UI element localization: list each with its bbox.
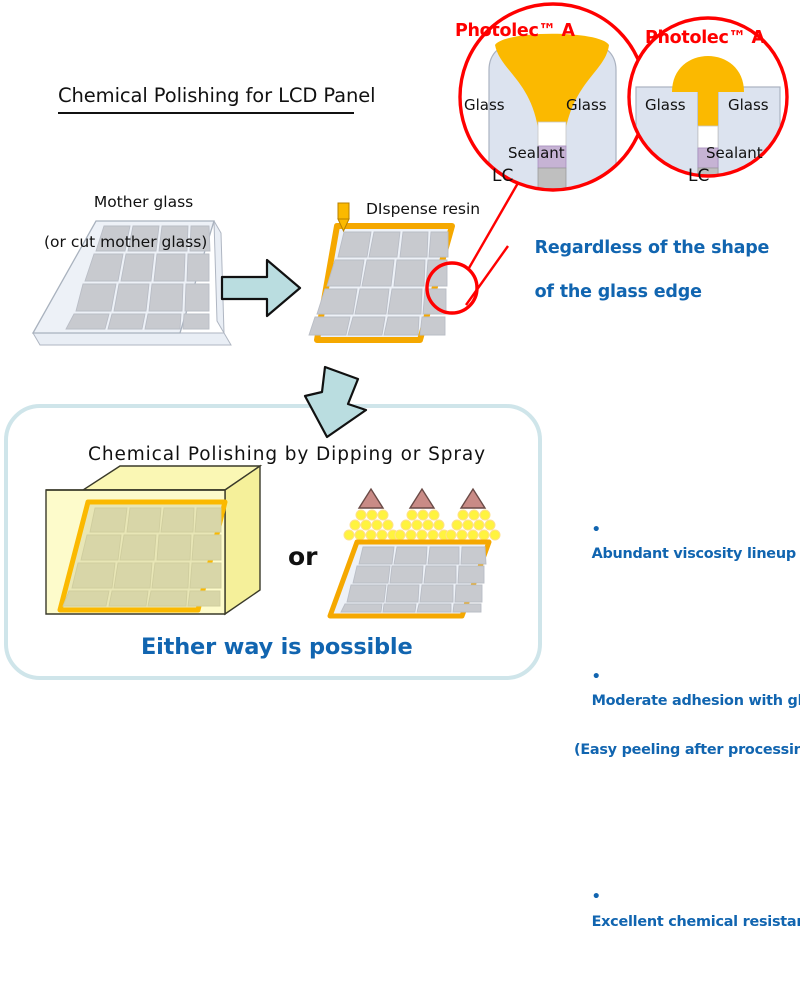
- diagram-canvas: Chemical Polishing for LCD Panel Mother …: [0, 0, 800, 684]
- spray-nozzles-group: [344, 489, 500, 540]
- or-separator-label: or: [288, 542, 318, 571]
- bullet-marker: •: [592, 889, 601, 905]
- spray-target-panel: [330, 542, 489, 616]
- callout-rounded-glass-right: Glass: [566, 96, 607, 114]
- either-way-footer: Either way is possible: [141, 634, 413, 660]
- bottom-panel-heading: Chemical Polishing by Dipping or Spray: [88, 444, 486, 465]
- right-arrow-icon: [222, 260, 300, 316]
- callout-square-lc: LC: [688, 166, 709, 186]
- callout-rounded-title: Photolec™ A: [455, 21, 575, 41]
- bullet-text: Moderate adhesion with glass: [592, 693, 800, 709]
- feature-bullet-list: • Abundant viscosity lineup • Moderate a…: [563, 444, 800, 1008]
- mother-glass-label-line2: (or cut mother glass): [44, 232, 207, 252]
- regardless-note: Regardless of the shape of the glass edg…: [511, 215, 769, 325]
- bullet-text: Abundant viscosity lineup: [592, 546, 796, 562]
- callout-square-glass-left: Glass: [645, 96, 686, 114]
- dispense-resin-label: DIspense resin: [366, 200, 480, 218]
- callout-square-glass-right: Glass: [728, 96, 769, 114]
- callout-square-sealant: Sealant: [706, 144, 763, 162]
- bullet-text: Excellent chemical resistance: [592, 914, 800, 930]
- callout-rounded-lc: LC: [492, 166, 513, 186]
- resin-coated-panel: [309, 226, 452, 340]
- regardless-note-line2: of the glass edge: [535, 282, 702, 302]
- callout-rounded-sealant: Sealant: [508, 144, 565, 162]
- page-title-underline: [58, 112, 354, 114]
- regardless-note-line1: Regardless of the shape: [535, 238, 770, 258]
- mother-glass-label: Mother glass (or cut mother glass): [60, 172, 207, 292]
- bullet-marker: •: [592, 669, 601, 685]
- list-item: • Abundant viscosity lineup: [563, 493, 800, 591]
- page-title: Chemical Polishing for LCD Panel: [58, 84, 375, 107]
- callout-square-title: Photolec™ A: [645, 28, 765, 48]
- bullet-marker: •: [592, 522, 601, 538]
- list-item: • Moderate adhesion with glass (Easy pee…: [563, 640, 800, 812]
- mother-glass-label-line1: Mother glass: [94, 193, 193, 211]
- list-item: • Excellent chemical resistance: [563, 861, 800, 959]
- bullet-subtext: (Easy peeling after processing): [563, 738, 800, 763]
- callout-rounded-glass-left: Glass: [464, 96, 505, 114]
